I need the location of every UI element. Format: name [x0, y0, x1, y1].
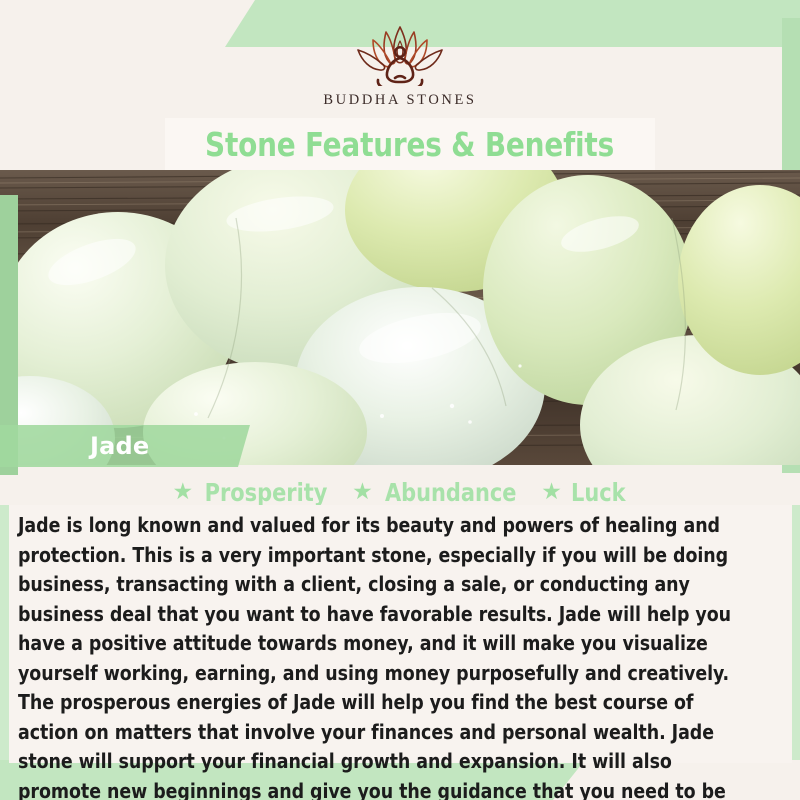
benefit-item: ★ Abundance — [352, 478, 521, 507]
decor-body-left-edge — [0, 505, 9, 760]
decor-body-right-edge — [792, 505, 800, 760]
benefit-item: ★ Prosperity — [173, 478, 333, 507]
star-icon: ★ — [352, 480, 373, 503]
stone-name-label: Jade — [90, 432, 149, 460]
brand-name: BUDDHA STONES — [323, 92, 476, 109]
description-text: Jade is long known and valued for its be… — [18, 511, 750, 800]
benefit-label: Prosperity — [205, 478, 328, 507]
page-title: Stone Features & Benefits — [206, 125, 615, 164]
lotus-meditation-icon — [325, 24, 475, 86]
benefit-label: Luck — [571, 478, 626, 507]
benefit-label: Abundance — [385, 478, 517, 507]
stone-photo — [0, 170, 800, 465]
star-icon: ★ — [173, 480, 194, 503]
benefits-row: ★ Prosperity ★ Abundance ★ Luck — [0, 478, 800, 507]
poster-root: BUDDHA STONES Stone Features & Benefits — [0, 0, 800, 800]
brand-header: BUDDHA STONES — [0, 0, 800, 120]
title-banner: Stone Features & Benefits — [165, 118, 655, 170]
star-icon: ★ — [541, 480, 562, 503]
description-panel: Jade is long known and valued for its be… — [9, 505, 792, 763]
stone-name-band: Jade — [0, 425, 250, 467]
benefit-item: ★ Luck — [541, 478, 627, 507]
